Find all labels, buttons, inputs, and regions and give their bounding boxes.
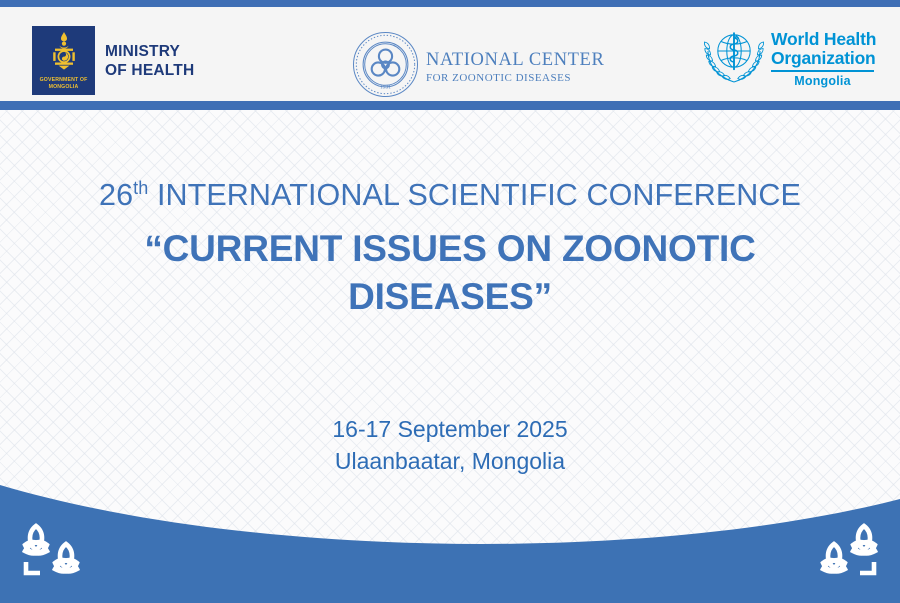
topic-title-line2: DISEASES” bbox=[0, 273, 900, 321]
topic-title: “CURRENT ISSUES ON ZOONOTIC DISEASES” bbox=[0, 225, 900, 321]
headline-block: 26th INTERNATIONAL SCIENTIFIC CONFERENCE… bbox=[0, 176, 900, 321]
who-name-line1: World Health bbox=[771, 30, 876, 49]
conference-line: 26th INTERNATIONAL SCIENTIFIC CONFERENCE bbox=[0, 176, 900, 214]
mongolia-state-emblem: GOVERNMENT OF MONGOLIA bbox=[32, 26, 95, 95]
conference-title-slide: GOVERNMENT OF MONGOLIA MINISTRY OF HEALT… bbox=[0, 0, 900, 603]
bottom-wave-decoration bbox=[0, 463, 900, 603]
emblem-caption: GOVERNMENT OF MONGOLIA bbox=[32, 77, 95, 91]
nczd-logo: 1931 NATIONAL CENTER FOR ZOONOTIC DISEAS… bbox=[352, 31, 604, 103]
nczd-seal-icon: 1931 bbox=[352, 31, 419, 103]
event-date: 16-17 September 2025 bbox=[0, 413, 900, 445]
conference-ordinal: th bbox=[133, 178, 148, 198]
who-divider-rule bbox=[771, 70, 874, 72]
conference-label: INTERNATIONAL SCIENTIFIC CONFERENCE bbox=[157, 178, 801, 212]
nczd-name: NATIONAL CENTER FOR ZOONOTIC DISEASES bbox=[426, 50, 604, 85]
ministry-name-line1: MINISTRY bbox=[105, 42, 194, 61]
nczd-name-line1: NATIONAL CENTER bbox=[426, 50, 604, 71]
who-name-line2: Organization bbox=[771, 49, 876, 68]
who-country-label: Mongolia bbox=[771, 74, 874, 88]
emblem-caption-line2: MONGOLIA bbox=[32, 84, 95, 91]
ministry-of-health-name: MINISTRY OF HEALTH bbox=[105, 42, 194, 80]
emblem-caption-line1: GOVERNMENT OF bbox=[32, 77, 95, 84]
nczd-name-line2: FOR ZOONOTIC DISEASES bbox=[426, 71, 604, 85]
logo-header: GOVERNMENT OF MONGOLIA MINISTRY OF HEALT… bbox=[0, 7, 900, 101]
mongolian-knot-ornament-right bbox=[806, 518, 884, 585]
soyombo-icon bbox=[32, 31, 95, 77]
mongolian-knot-ornament-left bbox=[16, 518, 94, 585]
who-wordmark: World Health Organization Mongolia bbox=[771, 27, 876, 88]
topic-title-line1: “CURRENT ISSUES ON ZOONOTIC bbox=[0, 225, 900, 273]
ministry-of-health-logo: GOVERNMENT OF MONGOLIA MINISTRY OF HEALT… bbox=[32, 26, 194, 95]
who-logo: World Health Organization Mongolia bbox=[702, 27, 876, 90]
ministry-name-line2: OF HEALTH bbox=[105, 61, 194, 80]
who-emblem-icon bbox=[702, 27, 766, 90]
nczd-seal-year: 1931 bbox=[380, 85, 391, 91]
conference-number: 26 bbox=[99, 178, 133, 212]
wave-blue bbox=[0, 485, 900, 603]
header-divider-bar bbox=[0, 101, 900, 110]
top-accent-bar bbox=[0, 0, 900, 7]
